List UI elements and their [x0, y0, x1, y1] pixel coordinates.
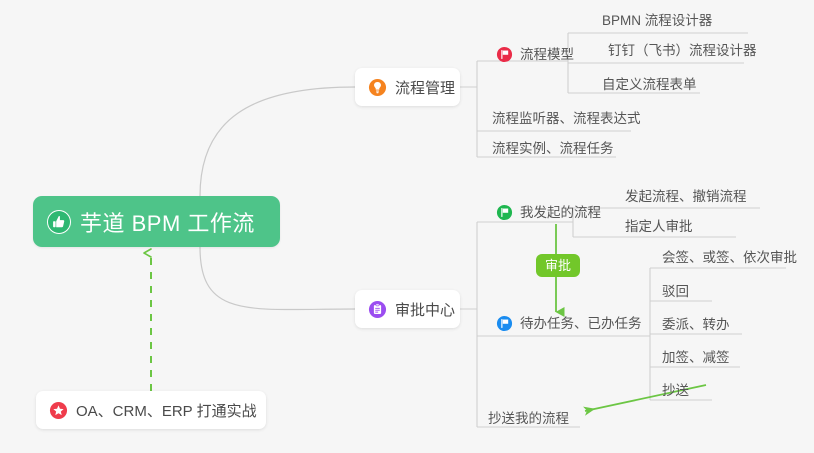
- node-my-initiated-process[interactable]: 我发起的流程: [496, 204, 601, 221]
- node-label: 指定人审批: [625, 220, 693, 234]
- approval-tag-label: 审批: [545, 258, 571, 273]
- node-label: 钉钉（飞书）流程设计器: [608, 44, 757, 58]
- node-label: 流程模型: [520, 48, 574, 62]
- root-node[interactable]: 芋道 BPM 工作流: [33, 196, 280, 247]
- node-label: 待办任务、已办任务: [520, 317, 642, 331]
- node-label: 发起流程、撤销流程: [625, 190, 747, 204]
- node-todo-done-tasks[interactable]: 待办任务、已办任务: [496, 315, 642, 332]
- node-process-model[interactable]: 流程模型: [496, 46, 574, 63]
- node-process-listener[interactable]: 流程监听器、流程表达式: [492, 112, 641, 126]
- clipboard-icon: [368, 300, 387, 319]
- note-node[interactable]: OA、CRM、ERP 打通实战: [36, 391, 266, 429]
- node-reject[interactable]: 驳回: [662, 285, 689, 299]
- node-label: 流程监听器、流程表达式: [492, 112, 641, 126]
- node-label: 驳回: [662, 285, 689, 299]
- node-cc-my-process[interactable]: 抄送我的流程: [488, 412, 569, 426]
- approval-tag: 审批: [536, 254, 580, 277]
- branch-node-process-management[interactable]: 流程管理: [355, 68, 460, 106]
- thumbs-up-icon: [47, 210, 71, 234]
- branch-label: 审批中心: [395, 299, 455, 320]
- star-icon: [49, 401, 68, 420]
- node-label: BPMN 流程设计器: [602, 14, 712, 28]
- node-add-remove-sign[interactable]: 加签、减签: [662, 351, 730, 365]
- flag-red-icon: [496, 46, 513, 63]
- node-process-instance[interactable]: 流程实例、流程任务: [492, 142, 614, 156]
- lightbulb-icon: [368, 78, 387, 97]
- node-label: 我发起的流程: [520, 206, 601, 220]
- branch-label: 流程管理: [395, 77, 455, 98]
- node-label: 流程实例、流程任务: [492, 142, 614, 156]
- node-dingtalk-designer[interactable]: 钉钉（飞书）流程设计器: [608, 44, 757, 58]
- node-cc[interactable]: 抄送: [662, 384, 689, 398]
- node-label: 抄送我的流程: [488, 412, 569, 426]
- node-countersign[interactable]: 会签、或签、依次审批: [662, 251, 797, 265]
- node-label: 会签、或签、依次审批: [662, 251, 797, 265]
- root-label: 芋道 BPM 工作流: [80, 206, 255, 238]
- flag-green-icon: [496, 204, 513, 221]
- node-delegate-transfer[interactable]: 委派、转办: [662, 318, 730, 332]
- node-label: 委派、转办: [662, 318, 730, 332]
- node-custom-form[interactable]: 自定义流程表单: [602, 78, 697, 92]
- note-label: OA、CRM、ERP 打通实战: [76, 400, 257, 421]
- mindmap-canvas: 芋道 BPM 工作流 流程管理 审批中心: [0, 0, 814, 453]
- node-start-cancel-process[interactable]: 发起流程、撤销流程: [625, 190, 747, 204]
- node-label: 自定义流程表单: [602, 78, 697, 92]
- node-assignee-approval[interactable]: 指定人审批: [625, 220, 693, 234]
- node-bpmn-designer[interactable]: BPMN 流程设计器: [602, 14, 712, 28]
- flag-blue-icon: [496, 315, 513, 332]
- node-label: 加签、减签: [662, 351, 730, 365]
- branch-node-approval-center[interactable]: 审批中心: [355, 290, 460, 328]
- node-label: 抄送: [662, 384, 689, 398]
